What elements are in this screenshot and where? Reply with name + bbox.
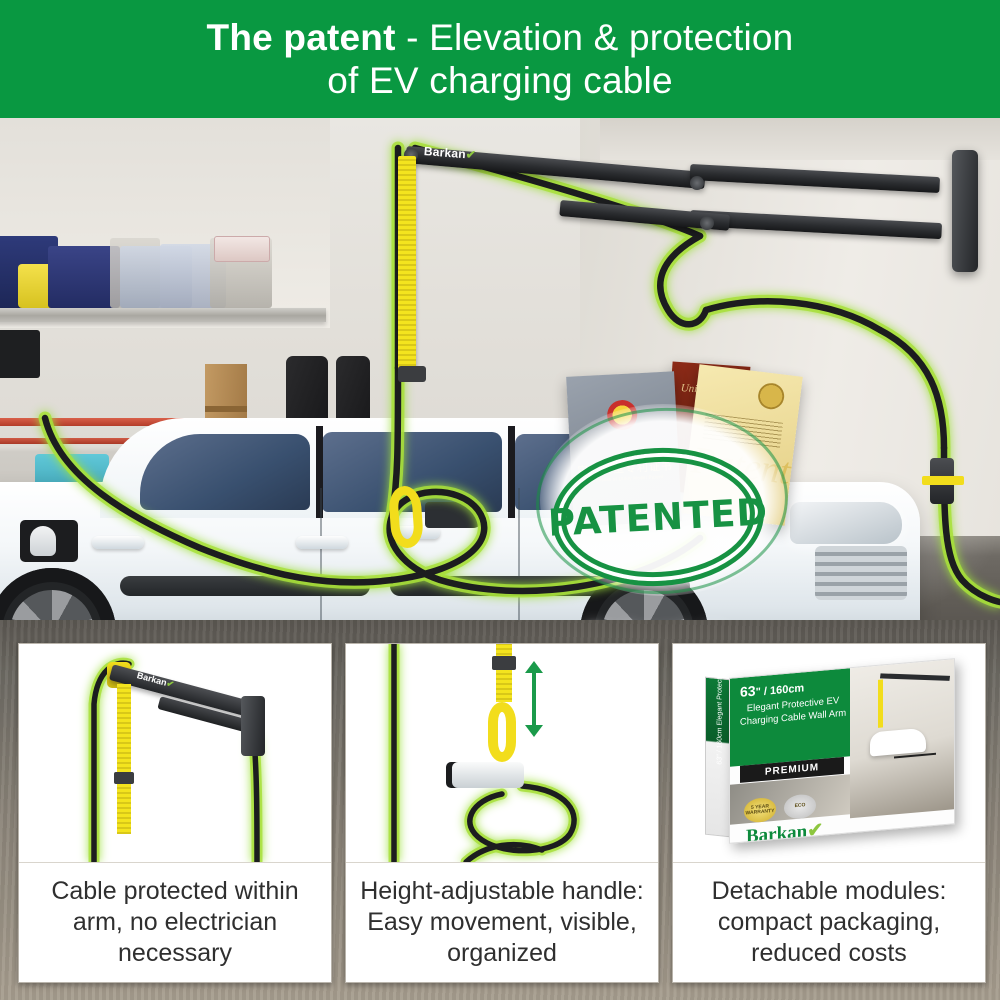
panel-1-wall-plate xyxy=(241,696,265,756)
feature-panel-1: Barkan✔ Cable protected within arm, no e… xyxy=(18,643,332,983)
barkan-logo-box: Barkan✔ xyxy=(746,819,823,844)
eco-badge-text: ECO xyxy=(784,793,816,820)
panel-3-caption: Detachable modules: compact packaging, r… xyxy=(673,862,985,982)
panel-1-cable xyxy=(19,644,331,862)
height-adjust-arrow-icon xyxy=(532,672,536,726)
box-photo-strap xyxy=(878,679,883,727)
barkan-wordmark: Barkan xyxy=(746,821,807,844)
box-hero-photo xyxy=(850,659,955,818)
yellow-strap xyxy=(398,156,416,370)
barkan-tick-icon: ✔ xyxy=(465,147,476,162)
panel-2-adjustable-handle xyxy=(488,702,516,762)
feature-panels: Barkan✔ Cable protected within arm, no e… xyxy=(18,643,986,983)
header-banner: The patent - Elevation & protection of E… xyxy=(0,0,1000,118)
adjustable-handle xyxy=(388,485,424,549)
arm-segment-inner xyxy=(690,164,940,193)
panel-1-caption: Cable protected within arm, no electrici… xyxy=(19,862,331,982)
wall-arm-assembly: Barkan✔ xyxy=(0,118,1000,648)
product-box: 63" / 160cm Elegant Protective EV Chargi… xyxy=(703,662,955,842)
warranty-badge-icon: 5 YEAR WARRANTY xyxy=(744,797,776,824)
banner-line-2: of EV charging cable xyxy=(327,61,672,101)
hero-photo: Barkan✔ United States Patent 实用新型专利证书 Ce… xyxy=(0,118,1000,648)
gold-seal-icon xyxy=(757,382,786,411)
box-spine: 63" / 160cm Elegant Protective EV Chargi… xyxy=(705,677,731,838)
barkan-tick-icon: ✔ xyxy=(807,820,823,842)
patented-stamp-text: PATENTED xyxy=(547,490,769,544)
feature-panel-3: 63" / 160cm Elegant Protective EV Chargi… xyxy=(672,643,986,983)
warranty-badge-text: 5 YEAR WARRANTY xyxy=(744,797,776,824)
eco-badge-icon: ECO xyxy=(784,793,816,820)
arm-pivot xyxy=(690,176,704,190)
panel-1-yellow-strap xyxy=(117,684,131,834)
feature-panels-section: Barkan✔ Cable protected within arm, no e… xyxy=(0,620,1000,1000)
box-photo-bike xyxy=(894,735,936,759)
strap-buckle xyxy=(398,366,426,382)
box-front-face: 63" / 160cm Elegant Protective EV Chargi… xyxy=(729,658,955,844)
panel-2-strap-buckle xyxy=(492,656,516,670)
panel-2-caption: Height-adjustable handle: Easy movement,… xyxy=(346,862,658,982)
banner-rest-text: - Elevation & protection xyxy=(396,17,794,58)
panel-2-image xyxy=(346,644,658,862)
box-spine-text: 63" / 160cm Elegant Protective EV Chargi… xyxy=(717,684,724,765)
banner-line-1: The patent - Elevation & protection xyxy=(207,18,794,58)
panel-2-yellow-strap xyxy=(496,644,512,702)
feature-panel-2: Height-adjustable handle: Easy movement,… xyxy=(345,643,659,983)
banner-strong-text: The patent xyxy=(207,17,396,58)
panel-1-strap-buckle xyxy=(114,772,134,784)
box-photo-arm xyxy=(880,673,950,680)
arm-pivot xyxy=(700,216,714,230)
box-size-number: 63 xyxy=(740,683,756,700)
panel-2-charging-connector xyxy=(452,762,524,788)
wall-mount-plate xyxy=(952,150,978,272)
poster-root: The patent - Elevation & protection of E… xyxy=(0,0,1000,1000)
clamp-strap xyxy=(922,476,964,485)
panel-1-image: Barkan✔ xyxy=(19,644,331,862)
panel-3-image: 63" / 160cm Elegant Protective EV Chargi… xyxy=(673,644,985,862)
